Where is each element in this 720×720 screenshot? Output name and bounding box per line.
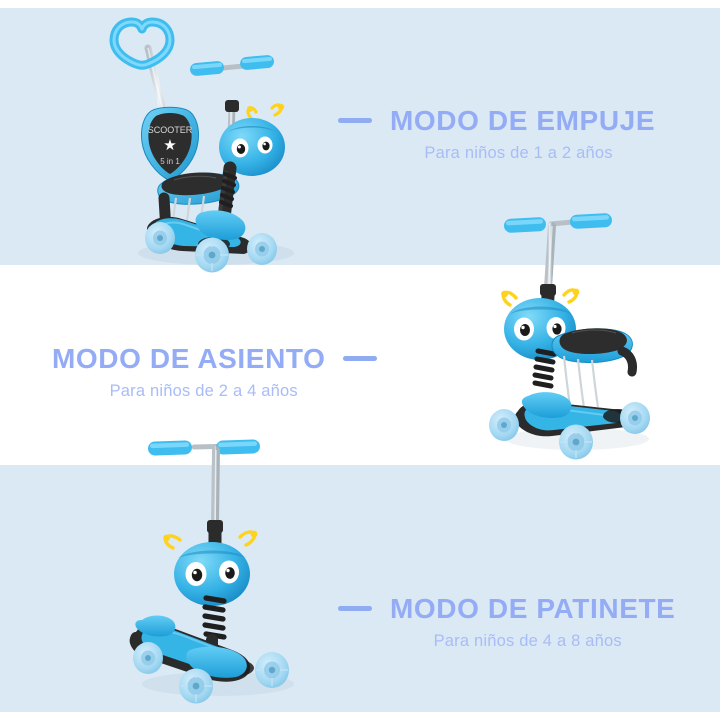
text-block-seat-mode: MODO DE ASIENTO Para niños de 2 a 4 años xyxy=(52,344,377,402)
seat-post xyxy=(622,351,633,372)
backrest: SCOOTER ★ 5 in 1 xyxy=(141,107,198,181)
infographic-page: SCOOTER ★ 5 in 1 xyxy=(0,0,720,720)
badge-brand-text: SCOOTER xyxy=(148,125,193,135)
subtitle-seat-mode: Para niños de 2 a 4 años xyxy=(110,382,298,402)
seat-cushion xyxy=(560,328,627,354)
heading-push-mode: MODO DE EMPUJE xyxy=(390,106,655,135)
subtitle-scooter-mode: Para niños de 4 a 8 años xyxy=(434,632,622,652)
badge-star-icon: ★ xyxy=(163,137,176,154)
heading-scooter-mode: MODO DE PATINETE xyxy=(390,594,675,623)
push-mode-scooter: SCOOTER ★ 5 in 1 xyxy=(104,8,314,270)
scooter-mode-scooter xyxy=(112,422,324,704)
dash-accent-icon xyxy=(338,606,372,611)
seat-mode-scooter xyxy=(472,196,672,458)
dash-accent-icon xyxy=(343,356,377,361)
text-block-push-mode: MODO DE EMPUJE Para niños de 1 a 2 años xyxy=(338,106,655,164)
badge-model-text: 5 in 1 xyxy=(160,157,180,166)
heading-row-seat-mode: MODO DE ASIENTO xyxy=(52,344,377,373)
subtitle-push-mode: Para niños de 1 a 2 años xyxy=(424,144,612,164)
dash-accent-icon xyxy=(338,118,372,123)
text-block-scooter-mode: MODO DE PATINETE Para niños de 4 a 8 año… xyxy=(338,594,675,652)
band-scooter-mode xyxy=(0,465,720,712)
heading-row-push-mode: MODO DE EMPUJE xyxy=(338,106,655,135)
heading-seat-mode: MODO DE ASIENTO xyxy=(52,344,325,373)
clamp xyxy=(225,100,239,112)
heading-row-scooter-mode: MODO DE PATINETE xyxy=(338,594,675,623)
